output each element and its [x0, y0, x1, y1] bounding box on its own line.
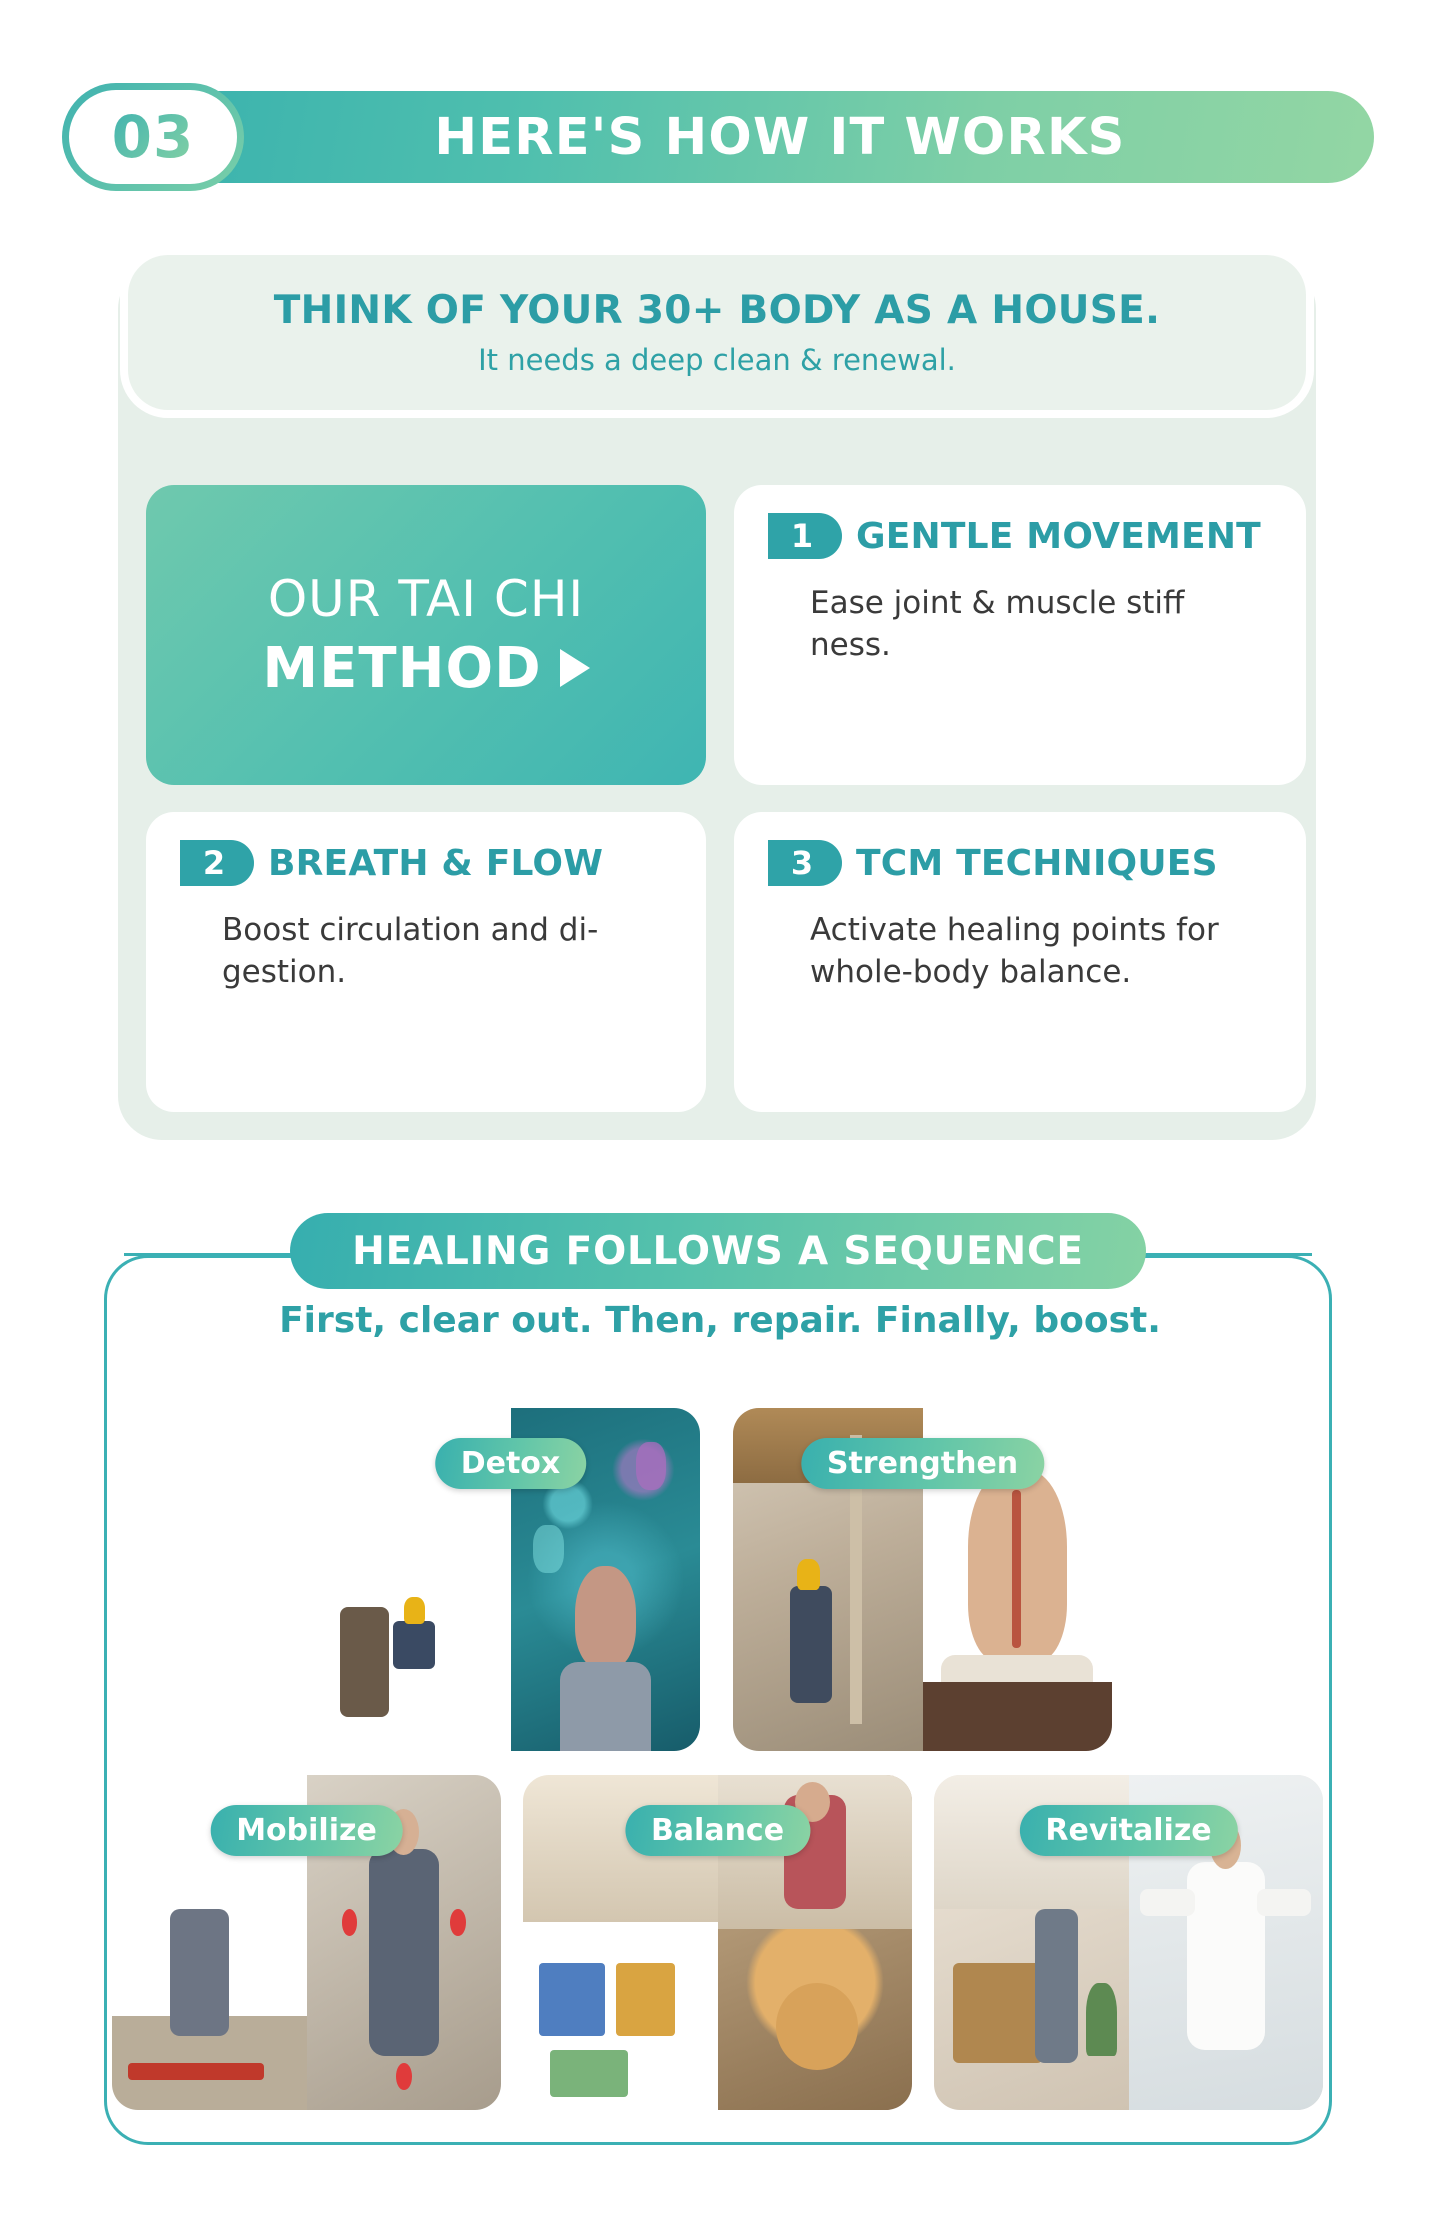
intro-subtitle: It needs a deep clean & renewal. [478, 343, 956, 377]
step-1-number-badge: 1 [768, 513, 842, 559]
step-1-body: Ease joint & muscle stiff ness. [810, 583, 1240, 666]
method-card-line2: METHOD [262, 636, 541, 701]
sequence-rule-left [124, 1253, 294, 1256]
method-card-line2-row: METHOD [262, 636, 589, 701]
method-card-line1: OUR TAI CHI [268, 570, 584, 628]
sequence-tile-balance[interactable]: Balance [523, 1775, 912, 2110]
step-3-number-badge: 3 [768, 840, 842, 886]
step-3-header: 3 TCM TECHNIQUES [768, 840, 1272, 886]
tile-label-detox: Detox [435, 1438, 587, 1489]
play-triangle-icon[interactable] [560, 649, 590, 687]
tile-label-revitalize: Revitalize [1019, 1805, 1237, 1856]
sequence-tile-detox[interactable]: Detox [321, 1408, 700, 1751]
step-3-title: TCM TECHNIQUES [856, 843, 1218, 884]
step-2-number-badge: 2 [180, 840, 254, 886]
step-number-text: 03 [112, 103, 195, 171]
infographic-page: 03 HERE'S HOW IT WORKS THINK OF YOUR 30+… [0, 0, 1440, 2213]
tile-label-strengthen: Strengthen [801, 1438, 1044, 1489]
our-method-card[interactable]: OUR TAI CHI METHOD [146, 485, 706, 785]
step-3-body: Activate healing points for whole-body b… [810, 910, 1240, 993]
page-title: HERE'S HOW IT WORKS [66, 108, 1374, 167]
step-1-header: 1 GENTLE MOVEMENT [768, 513, 1272, 559]
sequence-tile-revitalize[interactable]: Revitalize [934, 1775, 1323, 2110]
step-card-2[interactable]: 2 BREATH & FLOW Boost circulation and di… [146, 812, 706, 1112]
section-header-bar: 03 HERE'S HOW IT WORKS [66, 91, 1374, 183]
step-1-title: GENTLE MOVEMENT [856, 516, 1261, 557]
intro-card: THINK OF YOUR 30+ BODY AS A HOUSE. It ne… [128, 255, 1306, 410]
step-2-title: BREATH & FLOW [268, 843, 603, 884]
sequence-tile-strengthen[interactable]: Strengthen [733, 1408, 1112, 1751]
tile-label-balance: Balance [625, 1805, 810, 1856]
sequence-title-pill: HEALING FOLLOWS A SEQUENCE [290, 1213, 1146, 1289]
step-2-body: Boost circulation and di-gestion. [222, 910, 652, 993]
sequence-rule-right [1142, 1253, 1312, 1256]
intro-title: THINK OF YOUR 30+ BODY AS A HOUSE. [274, 288, 1160, 333]
step-card-1[interactable]: 1 GENTLE MOVEMENT Ease joint & muscle st… [734, 485, 1306, 785]
step-2-header: 2 BREATH & FLOW [180, 840, 672, 886]
tile-label-mobilize: Mobilize [210, 1805, 403, 1856]
step-number-badge: 03 [62, 83, 244, 191]
sequence-tile-mobilize[interactable]: Mobilize [112, 1775, 501, 2110]
sequence-subtitle: First, clear out. Then, repair. Finally,… [0, 1300, 1440, 1341]
step-card-3[interactable]: 3 TCM TECHNIQUES Activate healing points… [734, 812, 1306, 1112]
